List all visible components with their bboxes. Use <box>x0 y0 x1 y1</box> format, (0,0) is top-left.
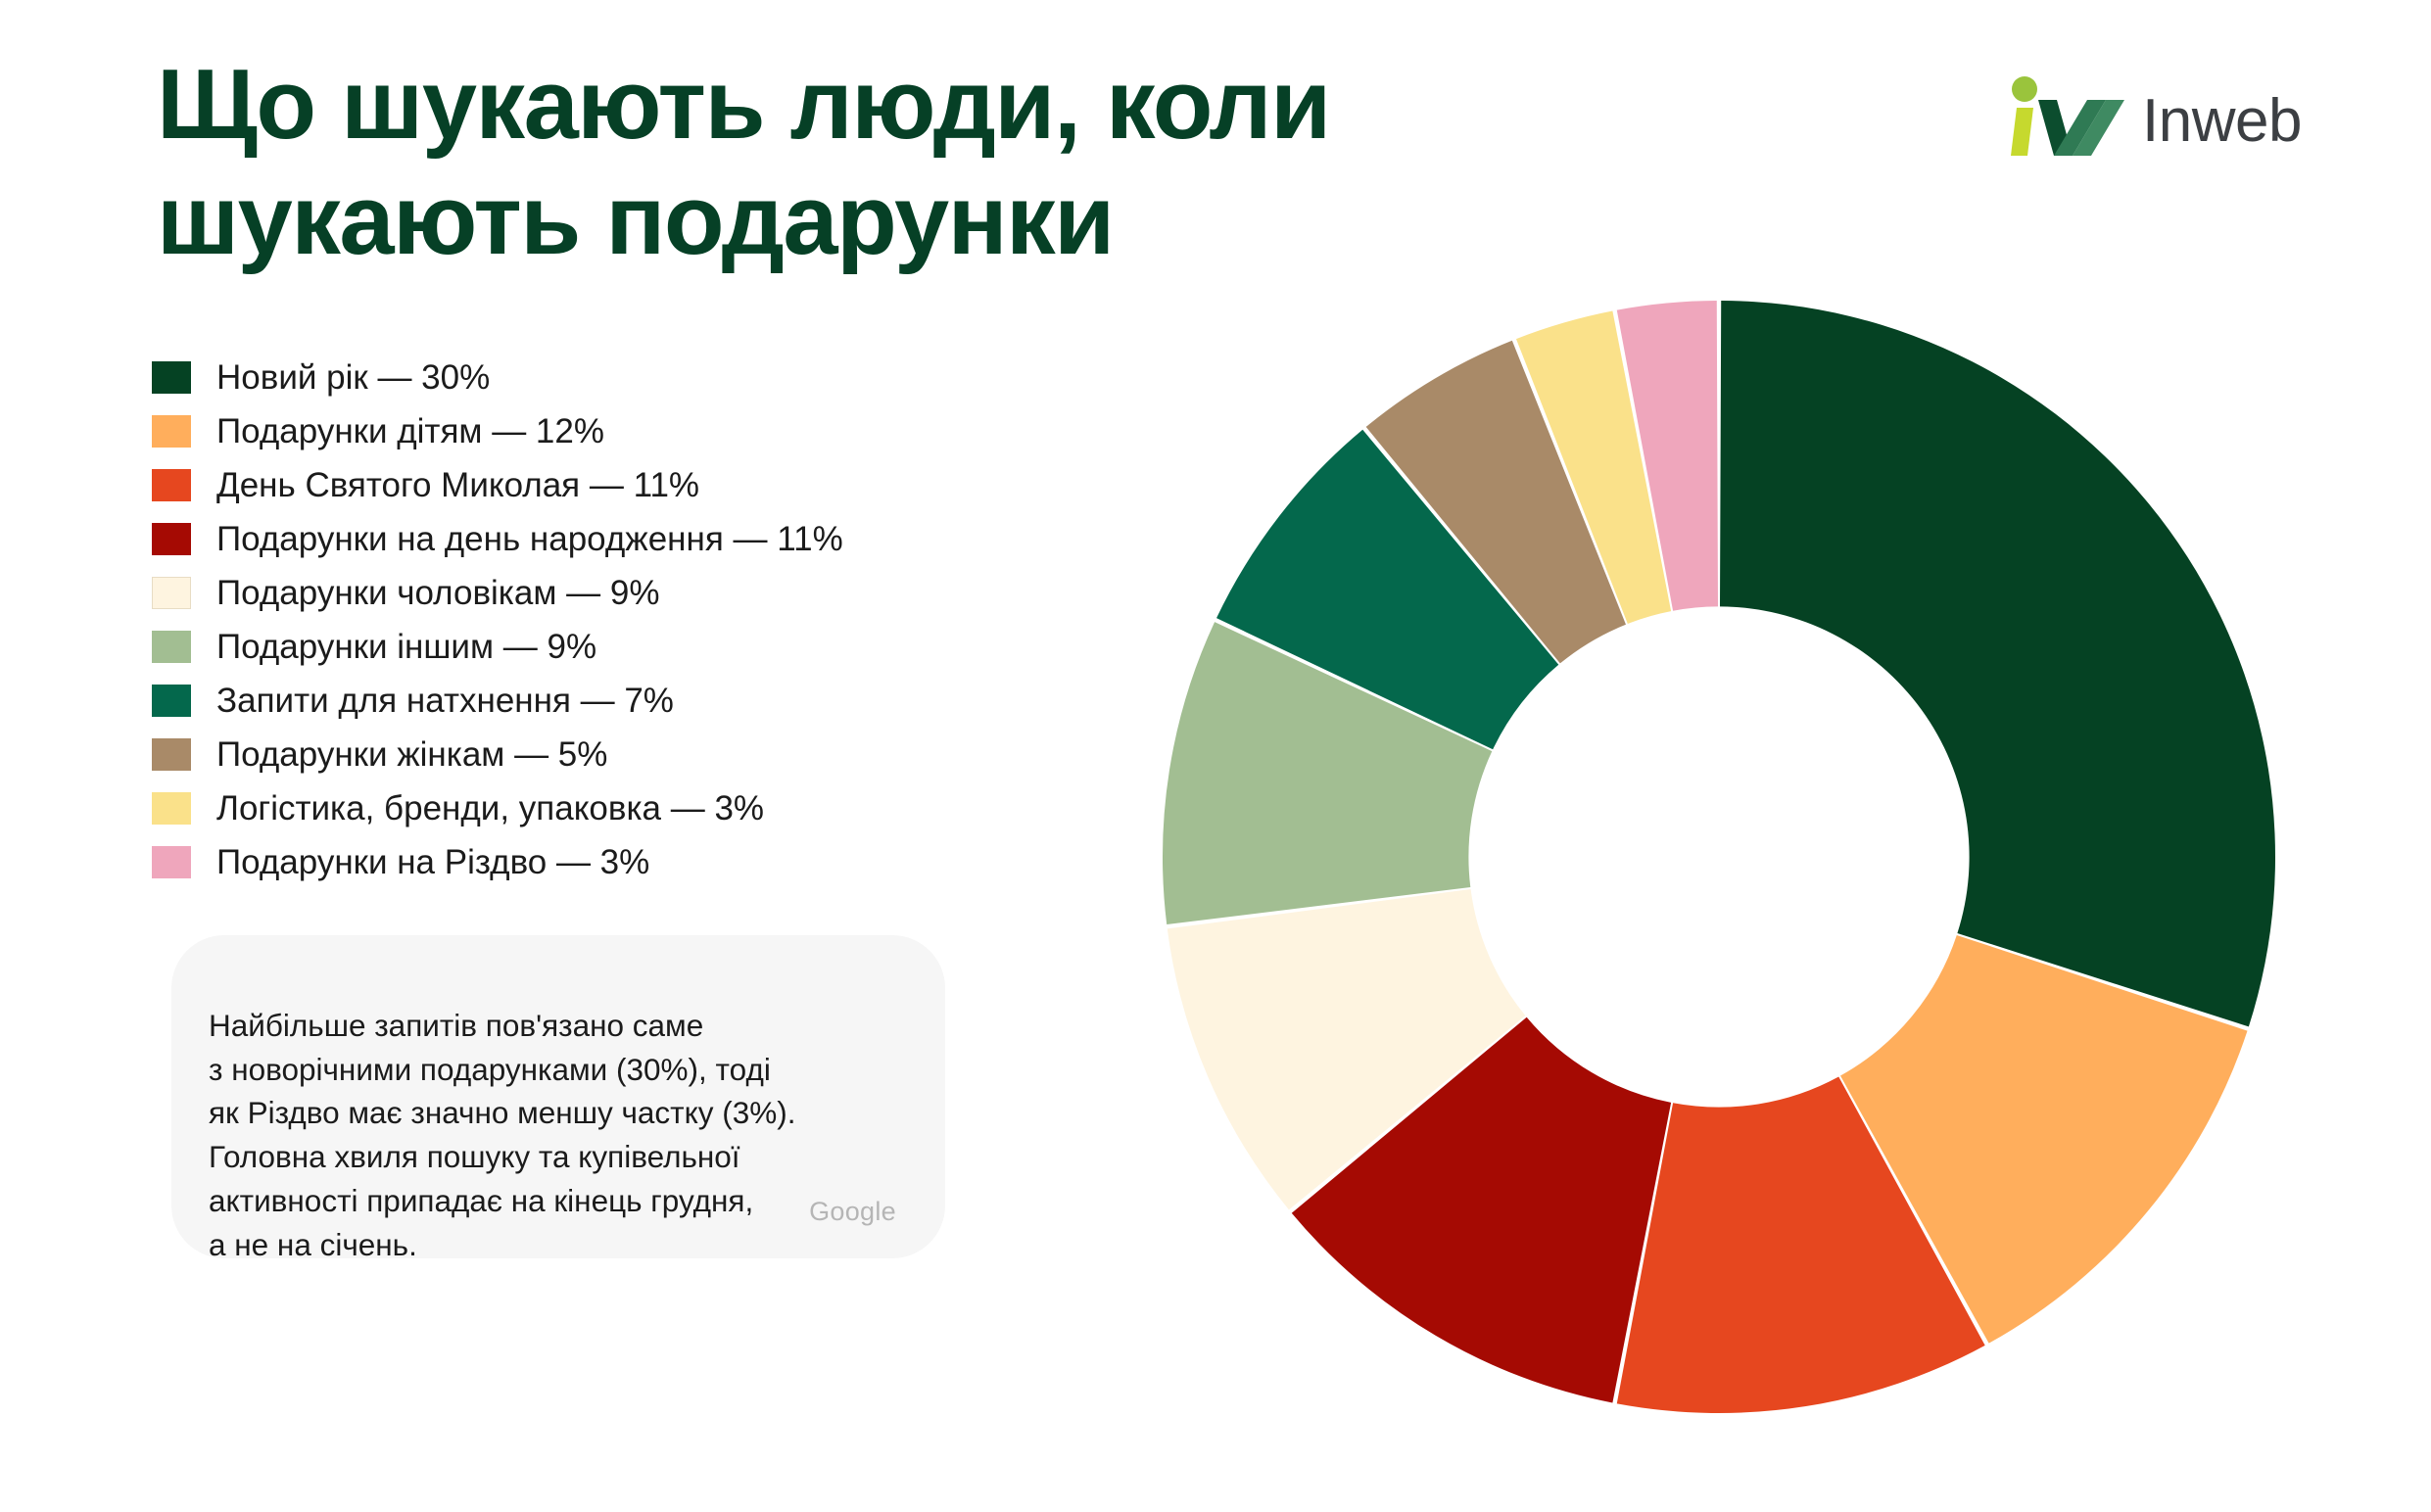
insight-note-box: Найбільше запитів пов'язано саме з новор… <box>171 935 945 1258</box>
data-source-label: Google <box>809 1197 896 1227</box>
infographic-root: Що шукають люди, коли шукають подарунки … <box>0 0 2431 1512</box>
legend-color-swatch <box>152 792 191 825</box>
legend-item: Подарунки іншим — 9% <box>152 620 1053 674</box>
logo-wordmark: Inweb <box>2142 91 2302 152</box>
legend-item: День Святого Миколая — 11% <box>152 458 1053 512</box>
legend-item-label: Подарунки на день народження — 11% <box>216 522 843 556</box>
legend-color-swatch <box>152 685 191 717</box>
donut-slice <box>1720 301 2275 1026</box>
page-title-line-2: шукають подарунки <box>157 163 1822 278</box>
legend-item: Подарунки чоловікам — 9% <box>152 566 1053 620</box>
donut-chart <box>1161 299 2277 1415</box>
legend-item: Запити для натхнення — 7% <box>152 674 1053 728</box>
legend-item: Подарунки на день народження — 11% <box>152 512 1053 566</box>
legend-color-swatch <box>152 738 191 771</box>
legend-item: Логістика, бренди, упаковка — 3% <box>152 781 1053 835</box>
legend-item: Подарунки жінкам — 5% <box>152 728 1053 781</box>
page-title: Що шукають люди, коли шукають подарунки <box>157 47 1822 278</box>
legend-item-label: День Святого Миколая — 11% <box>216 468 699 502</box>
legend-item: Новий рік — 30% <box>152 351 1053 404</box>
legend-item-label: Подарунки жінкам — 5% <box>216 737 607 772</box>
legend-color-swatch <box>152 361 191 394</box>
legend-item-label: Подарунки іншим — 9% <box>216 630 596 664</box>
legend-item-label: Подарунки чоловікам — 9% <box>216 576 659 610</box>
legend-item-label: Логістика, бренди, упаковка — 3% <box>216 791 764 826</box>
legend-item: Подарунки дітям — 12% <box>152 404 1053 458</box>
insight-note-text: Найбільше запитів пов'язано саме з новор… <box>209 1004 914 1266</box>
legend-item-label: Подарунки на Різдво — 3% <box>216 845 649 879</box>
legend-item-label: Запити для натхнення — 7% <box>216 684 674 718</box>
legend-color-swatch <box>152 631 191 663</box>
legend-color-swatch <box>152 846 191 878</box>
legend-color-swatch <box>152 469 191 501</box>
legend-color-swatch <box>152 415 191 448</box>
brand-logo: Inweb <box>2001 76 2302 162</box>
inweb-w-icon <box>2001 76 2136 162</box>
legend-item-label: Подарунки дітям — 12% <box>216 414 604 449</box>
legend-color-swatch <box>152 523 191 555</box>
legend-item: Подарунки на Різдво — 3% <box>152 835 1053 889</box>
legend-item-label: Новий рік — 30% <box>216 360 490 395</box>
page-title-line-1: Що шукають люди, коли <box>157 47 1822 163</box>
chart-legend: Новий рік — 30%Подарунки дітям — 12%День… <box>152 351 1053 889</box>
legend-color-swatch <box>152 577 191 609</box>
